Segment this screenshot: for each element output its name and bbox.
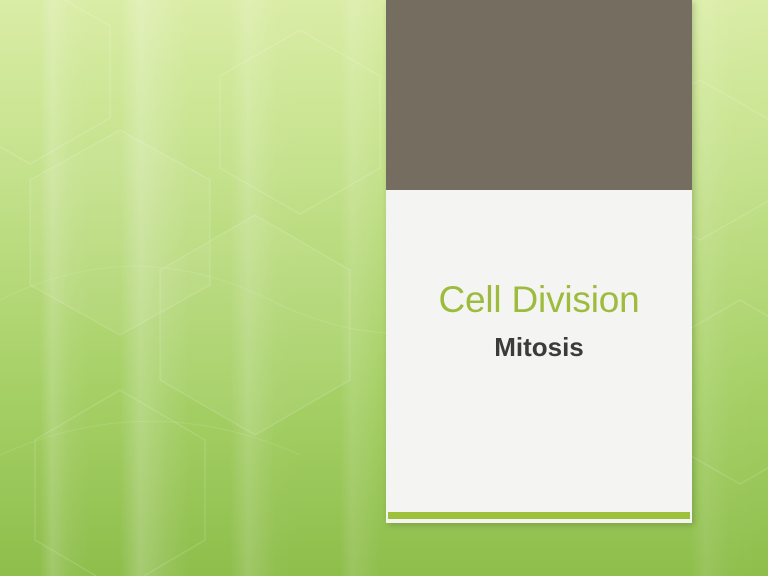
content-card: Cell Division Mitosis [386,0,692,523]
page-subtitle: Mitosis [494,332,584,363]
title-block: Cell Division Mitosis [386,190,692,523]
image-placeholder [386,0,692,190]
page-title: Cell Division [439,280,640,321]
accent-bar [388,512,690,519]
presentation-slide: Cell Division Mitosis [0,0,768,576]
